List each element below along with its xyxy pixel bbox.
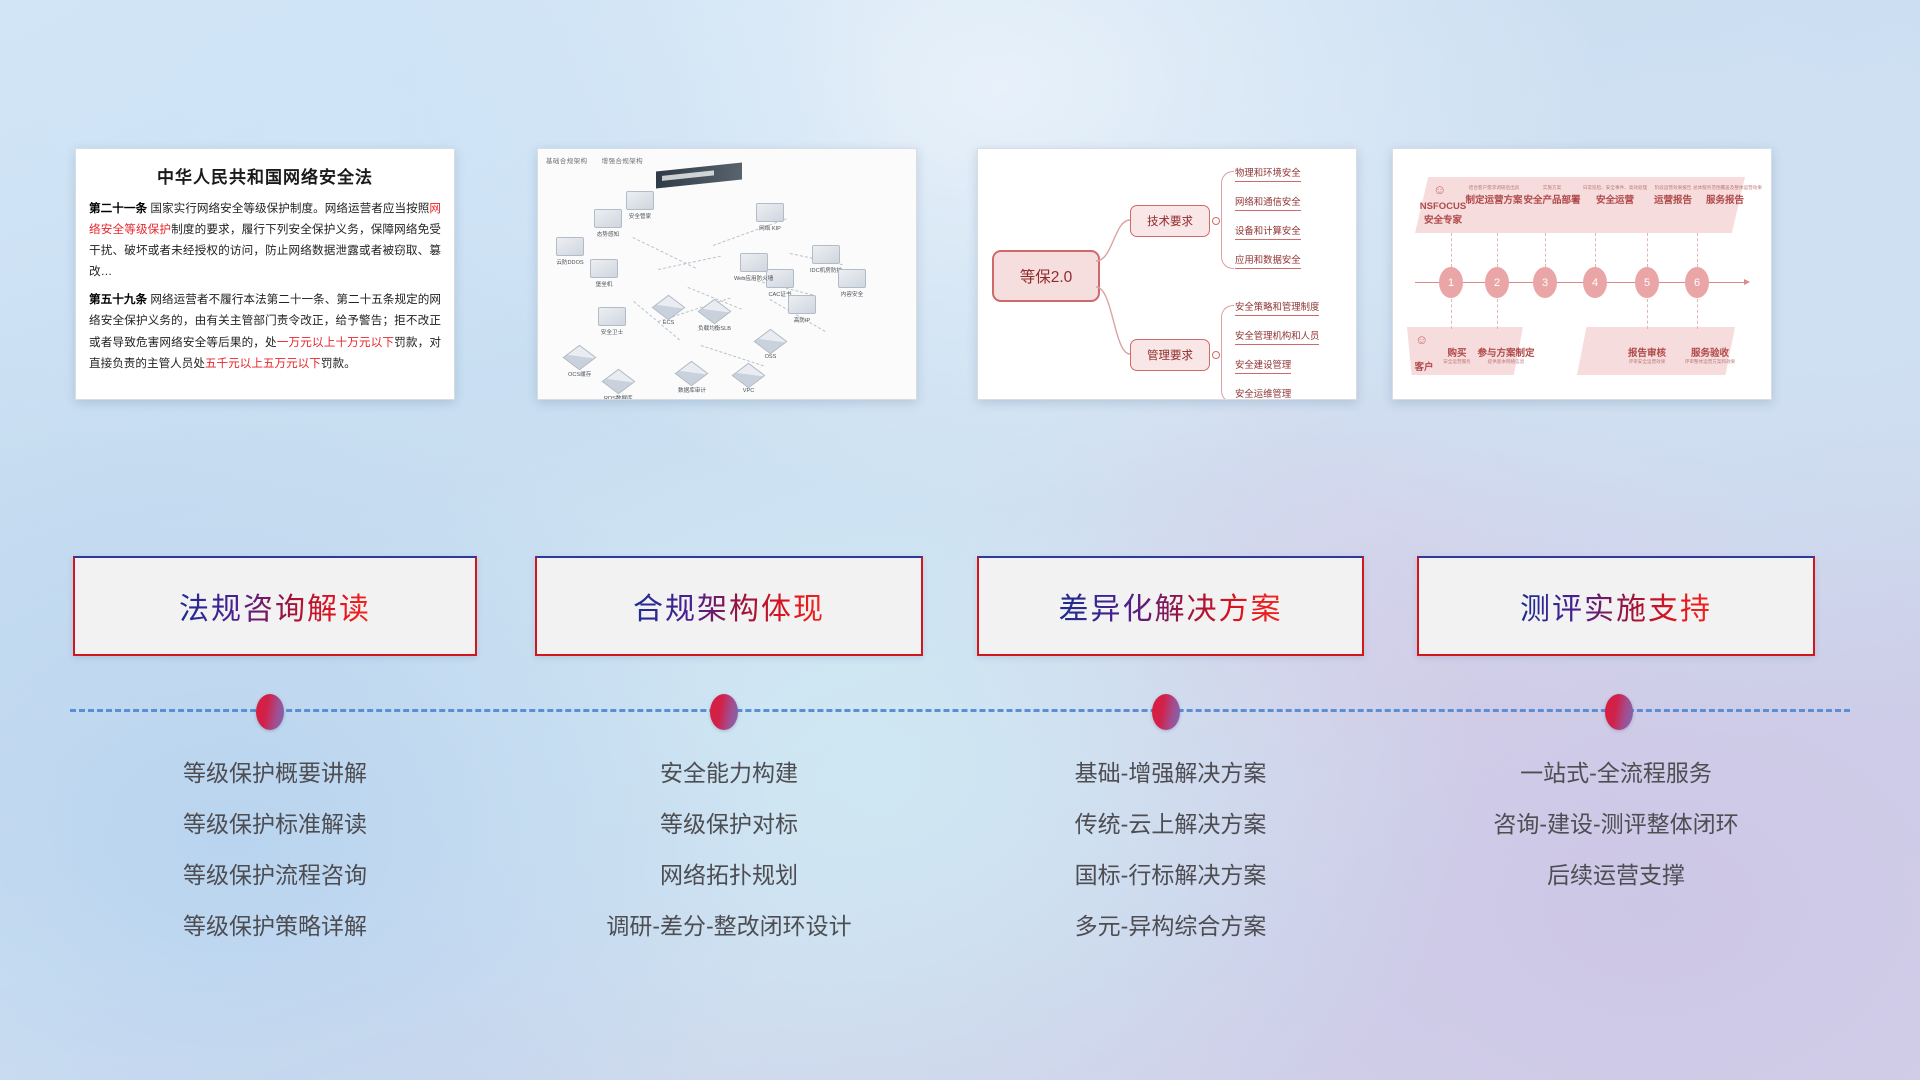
list-item: 网络拓扑规划 — [535, 850, 923, 900]
card-cloud-architecture[interactable]: 基础合规架构 增强合规架构 态势感知 云防DDOS 安全管家 — [537, 148, 917, 400]
list-item: 等级保护流程咨询 — [73, 850, 477, 900]
list-item: 等级保护标准解读 — [73, 799, 477, 849]
list-item: 咨询-建设-测评整体闭环 — [1417, 799, 1815, 849]
mindmap-leaf: 应用和数据安全 — [1235, 252, 1301, 269]
arch-node[interactable]: 堡垒机 — [590, 259, 618, 288]
arch-node-label: 内容安全 — [841, 292, 863, 298]
arch-node[interactable]: 负载均衡SLB — [698, 301, 731, 332]
timeline-dashed-line — [70, 709, 1850, 712]
arch-node[interactable]: 高防IP — [788, 295, 816, 324]
list-item: 等级保护对标 — [535, 799, 923, 849]
arch-node-label: 数据库审计 — [678, 388, 706, 394]
timeline-dot-1[interactable] — [256, 694, 284, 730]
arch-node[interactable]: 安全管家 — [626, 191, 654, 220]
mindmap-leaf: 物理和环境安全 — [1235, 165, 1301, 182]
arch-node-label: 负载均衡SLB — [698, 326, 731, 332]
mindmap-leaf: 安全建设管理 — [1235, 357, 1291, 374]
list-item: 国标-行标解决方案 — [977, 850, 1364, 900]
nsfocus-bottom-label: 报告审核 评审安全运营效果 — [1619, 345, 1675, 366]
article-21-label: 第二十一条 — [89, 202, 147, 215]
mindmap-leaf: 安全管理机构和人员 — [1235, 328, 1319, 345]
article-59-highlight-1: 一万元以上十万元以下 — [277, 336, 394, 349]
arch-node[interactable]: 态势感知 — [594, 209, 622, 238]
top-label-main: 服务报告 — [1693, 192, 1757, 206]
list-item: 基础-增强解决方案 — [977, 748, 1364, 798]
arch-node-label: OCS缓存 — [568, 372, 591, 378]
arch-node[interactable]: OSS — [760, 331, 781, 360]
article-59-highlight-2: 五千元以上五万元以下 — [205, 357, 321, 370]
list-item: 传统-云上解决方案 — [977, 799, 1364, 849]
customer-person-icon: ☺ — [1415, 333, 1428, 346]
law-article-59: 第五十九条 网络运营者不履行本法第二十一条、第二十五条规定的网络安全保护义务的，… — [89, 289, 441, 373]
nsfocus-leader — [1595, 233, 1596, 267]
arch-node[interactable]: OCS缓存 — [568, 347, 591, 378]
bottom-label-main: 报告审核 — [1619, 345, 1675, 359]
nsfocus-step[interactable]: 6 — [1685, 267, 1709, 298]
bottom-label-sub: 安全运营服务 — [1437, 359, 1477, 365]
title-box-differentiated-solution[interactable]: 差异化解决方案 — [977, 556, 1364, 656]
mindmap-collapse-icon[interactable] — [1212, 351, 1220, 359]
nsfocus-leader — [1451, 233, 1452, 267]
bottom-label-sub: 评审安全运营效果 — [1619, 359, 1675, 365]
arch-node[interactable]: 网络 KIP — [756, 203, 784, 232]
title-label: 合规架构体现 — [633, 584, 825, 628]
expert-role: 安全专家 — [1415, 212, 1471, 226]
nsfocus-leader — [1497, 233, 1498, 267]
architecture-banner — [656, 162, 742, 188]
nsfocus-customer-label: 客户 — [1407, 359, 1441, 373]
title-box-assessment-support[interactable]: 测评实施支持 — [1417, 556, 1815, 656]
arch-node[interactable]: ECS — [658, 297, 679, 326]
title-label: 法规咨询解读 — [179, 584, 371, 628]
detail-column-2: 安全能力构建 等级保护对标 网络拓扑规划 调研-差分-整改闭环设计 — [535, 748, 923, 952]
arch-node[interactable]: 内容安全 — [838, 269, 866, 298]
list-item: 等级保护概要讲解 — [73, 748, 477, 798]
architecture-tabs: 基础合规架构 增强合规架构 — [546, 155, 655, 165]
mindmap-collapse-icon[interactable] — [1212, 217, 1220, 225]
arch-node-label: RDS数据库 — [604, 396, 633, 400]
nsfocus-step[interactable]: 3 — [1533, 267, 1557, 298]
mindmap-brace — [1221, 305, 1234, 400]
nsfocus-bottom-label: 购买 安全运营服务 — [1437, 345, 1477, 366]
bottom-label-main: 服务验收 — [1679, 345, 1741, 359]
detail-column-3: 基础-增强解决方案 传统-云上解决方案 国标-行标解决方案 多元-异构综合方案 — [977, 748, 1364, 952]
nsfocus-bottom-label: 服务验收 评审整体运营方案和效果 — [1679, 345, 1741, 366]
nsfocus-leader — [1497, 299, 1498, 329]
nsfocus-diagram: ☺ NSFOCUS 安全专家 结合客户需求调研后出具 制定运营方案 实施方案 安… — [1393, 149, 1771, 399]
list-item: 后续运营支撑 — [1417, 850, 1815, 900]
arch-node-label: 云防DDOS — [556, 260, 583, 266]
title-label: 测评实施支持 — [1520, 584, 1712, 628]
arch-node-label: Web应用防火墙 — [734, 276, 773, 282]
list-item: 调研-差分-整改闭环设计 — [535, 901, 923, 951]
article-59-label: 第五十九条 — [89, 293, 147, 306]
mindmap-leaf: 网络和通信安全 — [1235, 194, 1301, 211]
arch-node[interactable]: VPC — [738, 365, 759, 394]
nsfocus-step[interactable]: 1 — [1439, 267, 1463, 298]
nsfocus-leader — [1647, 233, 1648, 267]
arch-node[interactable]: 云防DDOS — [556, 237, 584, 266]
arch-node-label: 网络 KIP — [759, 226, 781, 232]
timeline-dot-2[interactable] — [710, 694, 738, 730]
mindmap: 等保2.0 技术要求 物理和环境安全 网络和通信安全 设备和计算安全 应用和数据… — [978, 149, 1356, 399]
slide-root: 中华人民共和国网络安全法 第二十一条 国家实行网络安全等级保护制度。网络运营者应… — [0, 0, 1920, 1080]
nsfocus-leader — [1545, 233, 1546, 267]
arch-node-label: 态势感知 — [597, 232, 619, 238]
mindmap-leaf: 设备和计算安全 — [1235, 223, 1301, 240]
architecture-diagram: 基础合规架构 增强合规架构 态势感知 云防DDOS 安全管家 — [538, 149, 916, 399]
list-item: 等级保护策略详解 — [73, 901, 477, 951]
nsfocus-leader — [1697, 233, 1698, 267]
card-dengbao-mindmap[interactable]: 等保2.0 技术要求 物理和环境安全 网络和通信安全 设备和计算安全 应用和数据… — [977, 148, 1357, 400]
top-label-sub: 总体服务范围覆盖及整体运营效果 — [1693, 185, 1757, 191]
arch-connector — [658, 256, 721, 270]
arch-tab-basic[interactable]: 基础合规架构 — [546, 158, 587, 165]
mindmap-leaf: 安全策略和管理制度 — [1235, 299, 1319, 316]
arch-node-label: VPC — [743, 388, 755, 394]
bottom-label-sub: 提供基本网络信息 — [1475, 359, 1537, 365]
arch-node-label: ECS — [663, 320, 675, 326]
mindmap-branch-technical[interactable]: 技术要求 — [1130, 205, 1210, 237]
timeline-dot-4[interactable] — [1605, 694, 1633, 730]
title-box-regulation-consulting[interactable]: 法规咨询解读 — [73, 556, 477, 656]
nsfocus-top-label: 总体服务范围覆盖及整体运营效果 服务报告 — [1693, 185, 1757, 206]
timeline-dot-3[interactable] — [1152, 694, 1180, 730]
nsfocus-step[interactable]: 5 — [1635, 267, 1659, 298]
arch-node[interactable]: Web应用防火墙 — [734, 253, 773, 282]
mindmap-branch-management[interactable]: 管理要求 — [1130, 339, 1210, 371]
arch-node-label: 高防IP — [794, 318, 810, 324]
customer-role: 客户 — [1407, 359, 1441, 373]
nsfocus-bottom-label: 参与方案制定 提供基本网络信息 — [1475, 345, 1537, 366]
article-21-text-a: 国家实行网络安全等级保护制度。网络运营者应当按照 — [147, 202, 429, 215]
detail-column-1: 等级保护概要讲解 等级保护标准解读 等级保护流程咨询 等级保护策略详解 — [73, 748, 477, 952]
title-box-compliance-architecture[interactable]: 合规架构体现 — [535, 556, 923, 656]
arch-connector — [701, 345, 764, 366]
title-label: 差异化解决方案 — [1059, 584, 1283, 628]
screenshot-card-row: 中华人民共和国网络安全法 第二十一条 国家实行网络安全等级保护制度。网络运营者应… — [0, 148, 1920, 403]
law-title: 中华人民共和国网络安全法 — [76, 163, 454, 188]
arch-node[interactable]: RDS数据库 — [604, 371, 633, 400]
arch-node[interactable]: 数据库审计 — [678, 363, 706, 394]
arch-node-label: OSS — [765, 354, 777, 360]
timeline — [0, 690, 1920, 730]
article-59-text-c: 罚款。 — [321, 357, 356, 370]
nsfocus-step[interactable]: 2 — [1485, 267, 1509, 298]
list-item: 安全能力构建 — [535, 748, 923, 798]
law-body: 第二十一条 国家实行网络安全等级保护制度。网络运营者应当按照网络安全等级保护制度… — [76, 198, 454, 374]
card-nsfocus-timeline[interactable]: ☺ NSFOCUS 安全专家 结合客户需求调研后出具 制定运营方案 实施方案 安… — [1392, 148, 1772, 400]
mindmap-leaf: 安全运维管理 — [1235, 386, 1291, 400]
mindmap-brace — [1221, 171, 1234, 269]
detail-column-4: 一站式-全流程服务 咨询-建设-测评整体闭环 后续运营支撑 — [1417, 748, 1815, 901]
nsfocus-leader — [1647, 299, 1648, 329]
arch-node-label: 堡垒机 — [596, 282, 613, 288]
bottom-label-sub: 评审整体运营方案和效果 — [1679, 359, 1741, 365]
bottom-label-main: 参与方案制定 — [1475, 345, 1537, 359]
expert-person-icon: ☺ — [1433, 183, 1446, 196]
list-item: 多元-异构综合方案 — [977, 901, 1364, 951]
law-article-21: 第二十一条 国家实行网络安全等级保护制度。网络运营者应当按照网络安全等级保护制度… — [89, 198, 441, 282]
nsfocus-step[interactable]: 4 — [1583, 267, 1607, 298]
nsfocus-leader — [1451, 299, 1452, 329]
card-cybersecurity-law[interactable]: 中华人民共和国网络安全法 第二十一条 国家实行网络安全等级保护制度。网络运营者应… — [75, 148, 455, 400]
arch-tab-enhanced[interactable]: 增强合规架构 — [602, 158, 643, 165]
list-item: 一站式-全流程服务 — [1417, 748, 1815, 798]
arch-node-label: 安全管家 — [629, 214, 651, 220]
arch-node[interactable]: 安全卫士 — [598, 307, 626, 336]
nsfocus-leader — [1697, 299, 1698, 329]
title-box-row: 法规咨询解读 合规架构体现 差异化解决方案 测评实施支持 — [0, 556, 1920, 664]
arch-node-label: 安全卫士 — [601, 330, 623, 336]
bottom-label-main: 购买 — [1437, 345, 1477, 359]
